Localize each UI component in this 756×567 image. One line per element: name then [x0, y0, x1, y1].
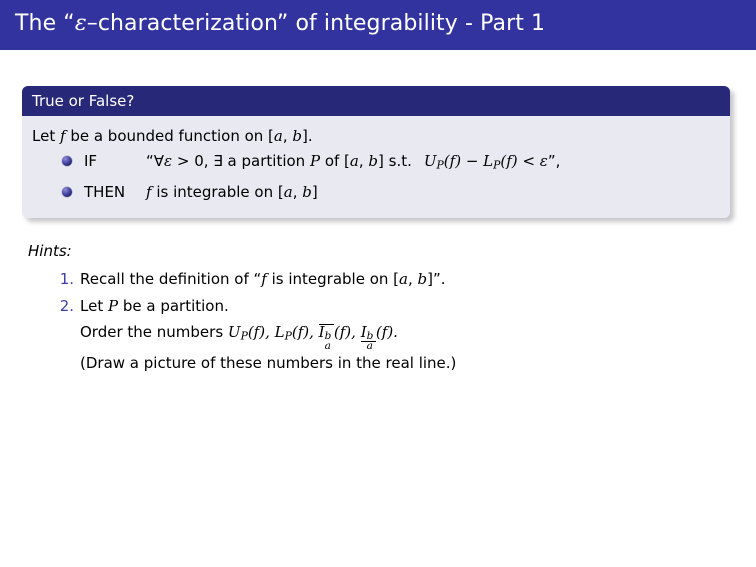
if-less-than: < — [518, 152, 540, 170]
slide-title: The “ε–characterization” of integrabilit… — [15, 9, 545, 39]
if-lower-sum-arg: (f) — [500, 152, 517, 170]
then-text-1: is integrable on [ — [152, 183, 284, 201]
intro-text-1: Let — [32, 127, 60, 145]
slide-title-before: The “ — [15, 11, 75, 36]
block-body: Let f be a bounded function on [a, b]. I… — [22, 116, 730, 218]
if-of-open: of [ — [320, 152, 350, 170]
hints-list: 1. Recall the definition of “f is integr… — [26, 266, 726, 376]
hint-2-line-3: (Draw a picture of these numbers in the … — [80, 350, 726, 376]
lower-integral-arg: (f). — [376, 323, 398, 341]
if-gt-zero: > 0, — [172, 152, 213, 170]
hint-item-2: 2. Let P be a partition. Order the numbe… — [26, 293, 726, 376]
hint-number-1: 1. — [50, 266, 74, 292]
then-keyword: THEN — [84, 180, 146, 204]
forall-symbol: ∀ — [154, 152, 164, 170]
hint-2-var-P: P — [108, 297, 118, 315]
list-item-if: IF“∀ε > 0, ∃ a partition P of [a, b] s.t… — [62, 149, 718, 178]
hint-2-line-1: Let P be a partition. — [80, 293, 726, 319]
intro-var-a: a — [274, 127, 283, 145]
hints-section: Hints: 1. Recall the definition of “f is… — [26, 240, 726, 377]
if-var-a: a — [350, 152, 359, 170]
hint-number-2: 2. — [50, 293, 74, 319]
bullet-sphere-icon — [62, 187, 72, 197]
then-statement: f is integrable on [a, b] — [146, 183, 318, 201]
hint-1-line-1: Recall the definition of “f is integrabl… — [80, 266, 726, 292]
order-lower-sum-sub-P: P — [285, 330, 292, 343]
order-upper-sum-sub-P: P — [241, 330, 248, 343]
then-var-a: a — [284, 183, 293, 201]
if-a-partition: a partition — [223, 152, 310, 170]
exists-symbol: ∃ — [213, 152, 222, 170]
block-title: True or False? — [22, 86, 730, 116]
list-item-then: THENf is integrable on [a, b] — [62, 180, 718, 204]
intro-text-4: ]. — [302, 127, 313, 145]
hint-item-1: 1. Recall the definition of “f is integr… — [26, 266, 726, 292]
order-lower-sum-arg: (f), — [292, 323, 319, 341]
block-bullet-list: IF“∀ε > 0, ∃ a partition P of [a, b] s.t… — [32, 149, 718, 204]
if-close-quote: ”, — [548, 152, 561, 170]
hint-2-text-1: Let — [80, 297, 108, 315]
hint-1-var-a: a — [399, 270, 408, 288]
intro-var-b: b — [292, 127, 302, 145]
hint-1-text-3: , — [408, 270, 418, 288]
intro-text-2: be a bounded function on [ — [66, 127, 274, 145]
if-comma: , — [359, 152, 369, 170]
slide-header-bar: The “ε–characterization” of integrabilit… — [0, 0, 756, 50]
slide-title-after: –characterization” of integrability - Pa… — [87, 11, 545, 36]
hint-1-text-4: ]”. — [427, 270, 445, 288]
upper-integral-symbol: Iba — [319, 324, 334, 341]
hint-2-text-2: be a partition. — [118, 297, 229, 315]
if-minus: − — [461, 152, 483, 170]
if-st: ] s.t. — [378, 152, 412, 170]
order-lower-sum-L: L — [275, 323, 285, 341]
hint-1-var-b: b — [418, 270, 428, 288]
if-upper-sum-U: U — [424, 152, 437, 170]
hints-label: Hints: — [28, 240, 726, 262]
then-text-2: , — [293, 183, 303, 201]
if-lower-sum-L: L — [483, 152, 493, 170]
if-statement: “∀ε > 0, ∃ a partition P of [a, b] s.t.U… — [146, 152, 560, 170]
then-text-3: ] — [312, 183, 318, 201]
intro-text-3: , — [283, 127, 293, 145]
upper-integral-sub-a: a — [325, 341, 331, 352]
hint-1-text-1: Recall the definition of “ — [80, 270, 261, 288]
if-var-P: P — [310, 152, 320, 170]
block-intro-line: Let f be a bounded function on [a, b]. — [32, 124, 718, 148]
bullet-sphere-icon — [62, 156, 72, 166]
upper-integral-arg: (f), — [334, 323, 361, 341]
lower-integral-sub-a: a — [367, 341, 373, 352]
then-var-b: b — [302, 183, 312, 201]
true-or-false-block: True or False? Let f be a bounded functi… — [22, 86, 730, 218]
if-open-quote: “ — [146, 152, 154, 170]
hint-2-line-2: Order the numbers UP(f), LP(f), Iba(f), … — [80, 319, 726, 350]
hint-1-text-2: is integrable on [ — [267, 270, 399, 288]
if-keyword: IF — [84, 149, 146, 173]
if-epsilon-2: ε — [540, 152, 548, 170]
if-epsilon: ε — [164, 152, 172, 170]
slide-title-epsilon: ε — [75, 11, 87, 36]
lower-integral-symbol: Iba — [361, 325, 376, 342]
order-upper-sum-U: U — [228, 323, 241, 341]
if-var-b: b — [368, 152, 378, 170]
if-upper-sum-sub-P: P — [437, 159, 444, 172]
if-upper-sum-arg: (f) — [444, 152, 461, 170]
order-upper-sum-arg: (f), — [248, 323, 275, 341]
hint-2-order-text: Order the numbers — [80, 323, 228, 341]
